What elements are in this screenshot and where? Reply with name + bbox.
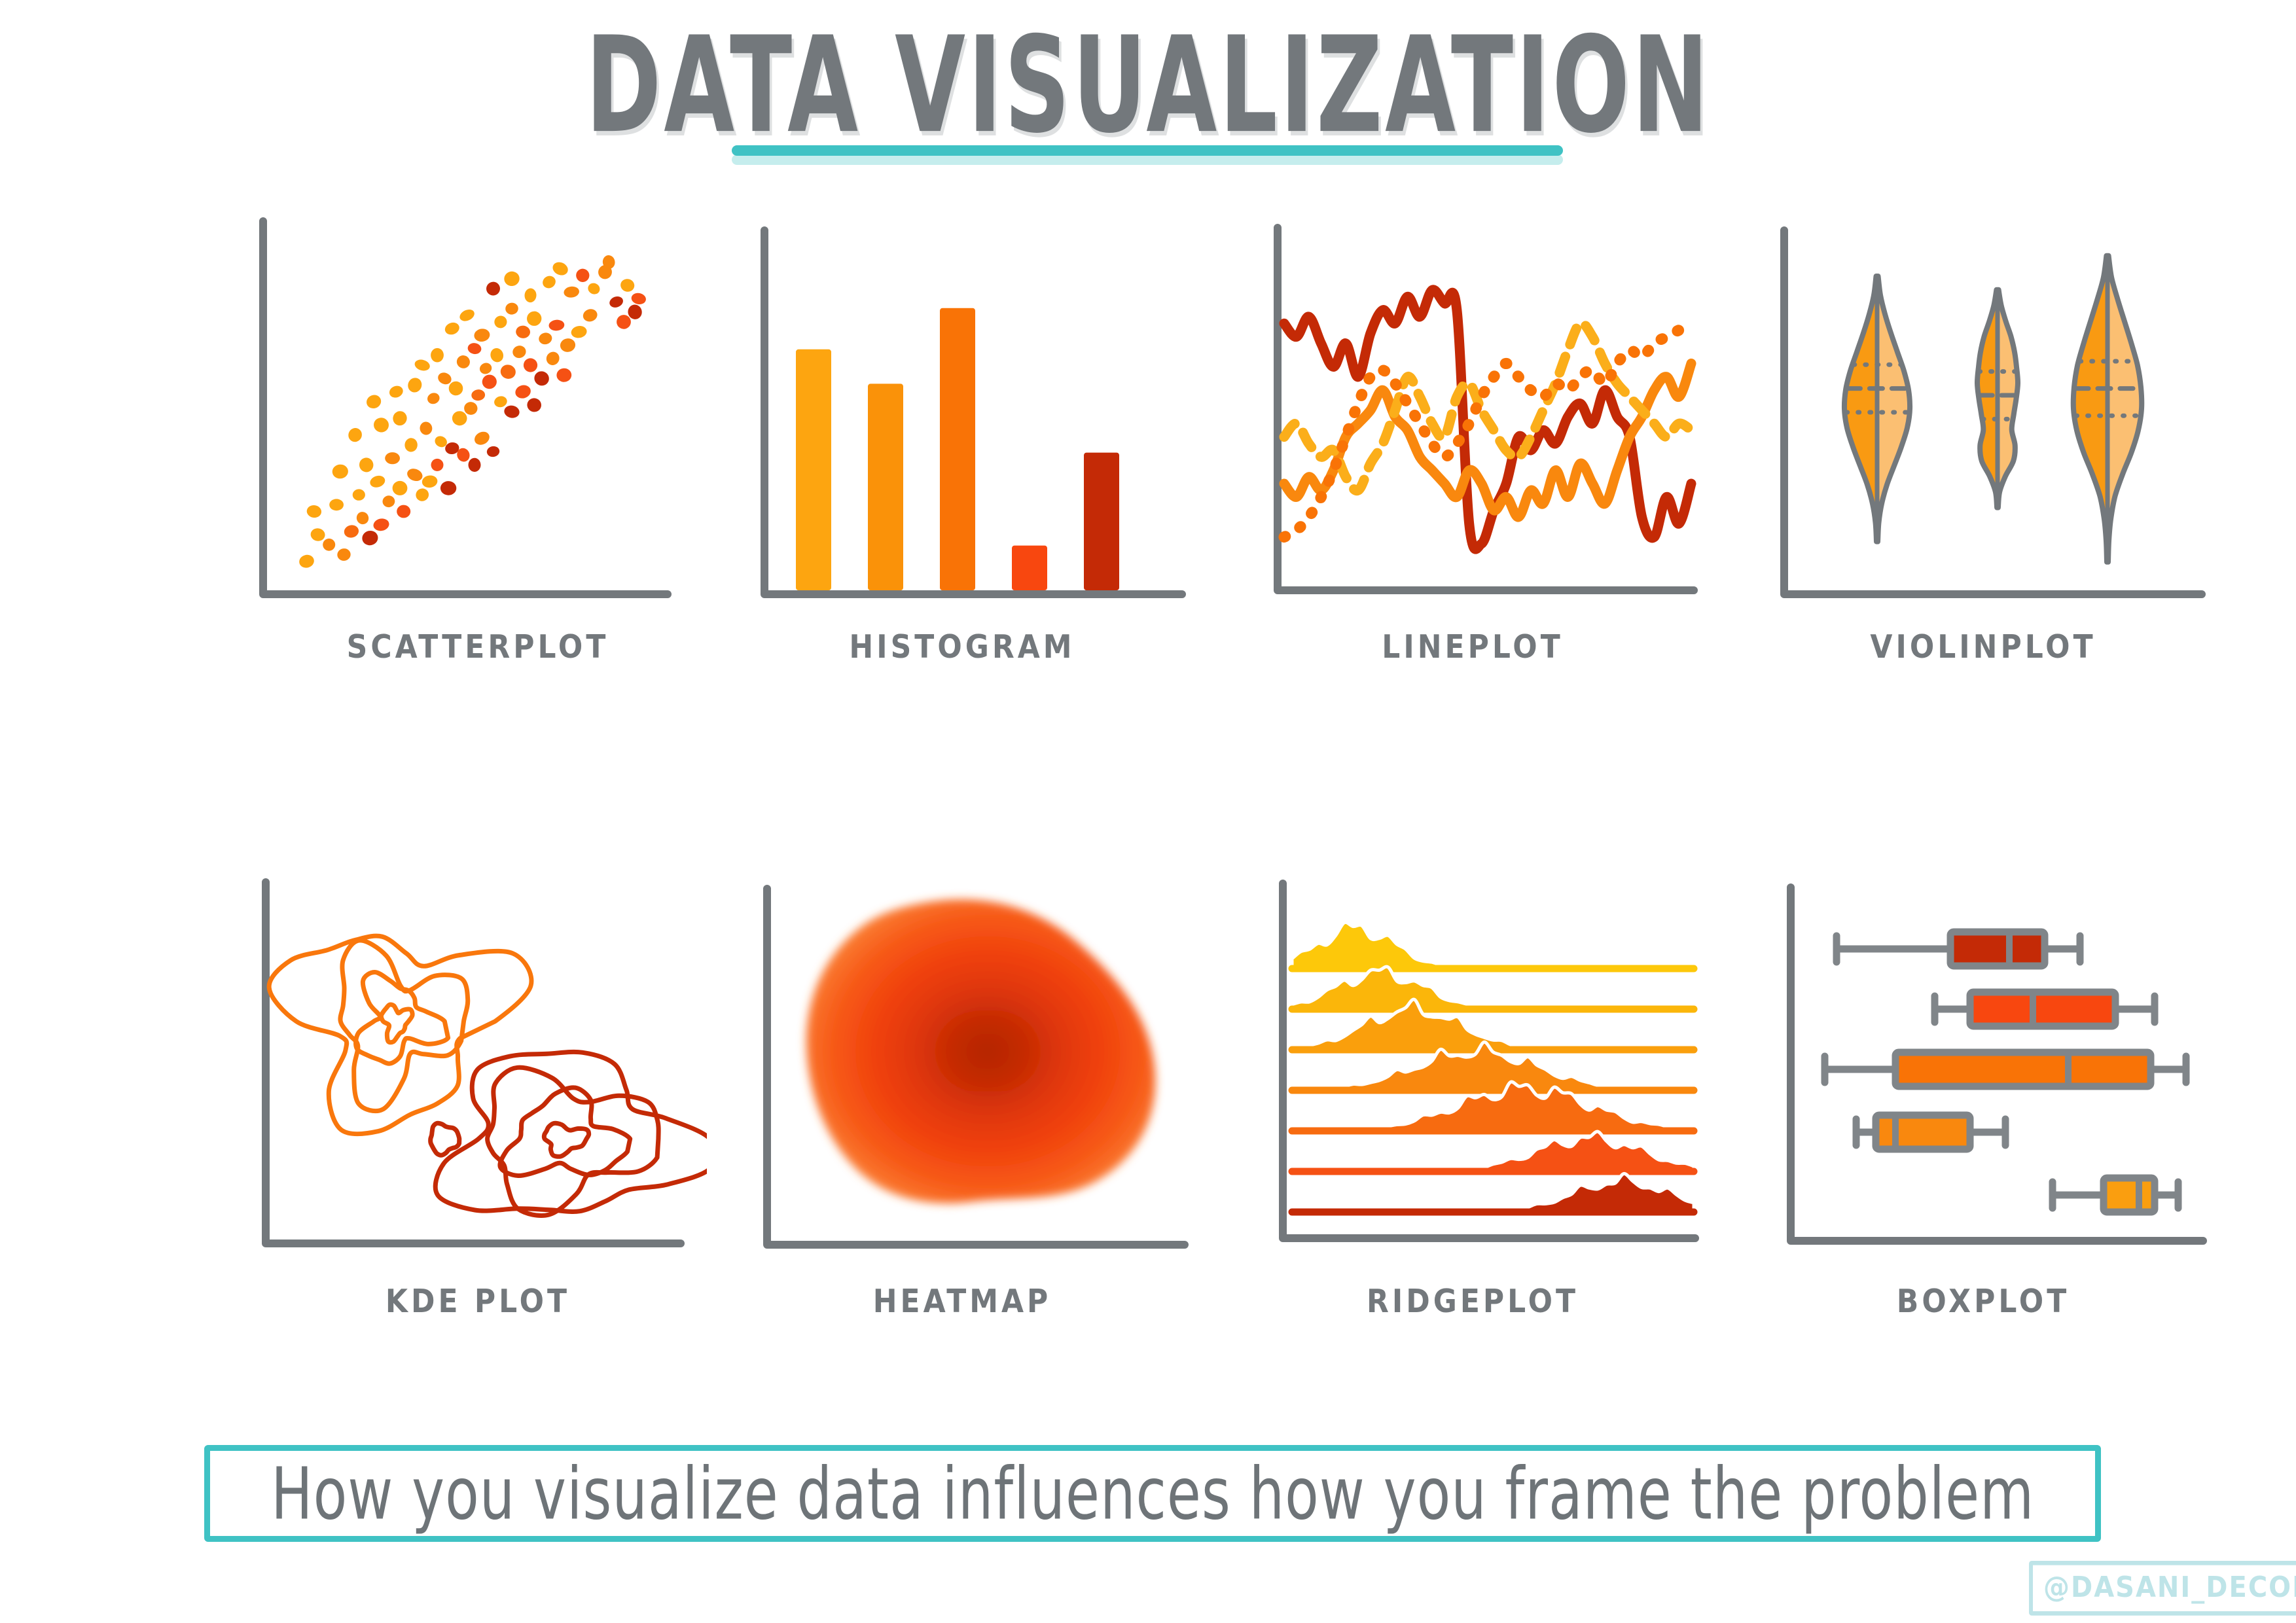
scatter-point bbox=[503, 404, 521, 419]
histogram-bar bbox=[1084, 453, 1119, 590]
ridge-area bbox=[1292, 967, 1694, 1009]
scatter-point bbox=[298, 553, 315, 569]
ridgeplot-plot-area bbox=[1244, 870, 1702, 1276]
footer-caption: How you visualize data influences how yo… bbox=[271, 1452, 2034, 1536]
scatter-point bbox=[468, 458, 480, 473]
kdeplot-plot-area bbox=[249, 870, 707, 1276]
page-title: DATA VISUALIZATION bbox=[585, 20, 1711, 152]
scatter-point bbox=[406, 376, 424, 395]
kdeplot-contours bbox=[269, 936, 707, 1215]
caption-histogram: HISTOGRAM bbox=[733, 628, 1191, 666]
scatter-point bbox=[617, 315, 631, 329]
lineplot-series bbox=[1284, 290, 1691, 549]
histogram-bar bbox=[1012, 546, 1047, 590]
boxplot-plot-area bbox=[1754, 870, 2212, 1276]
scatter-point bbox=[404, 438, 418, 453]
scatter-point bbox=[472, 429, 492, 448]
violinplot-violins bbox=[1844, 256, 2142, 562]
scatter-point bbox=[522, 356, 540, 374]
caption-boxplot: BOXPLOT bbox=[1754, 1283, 2212, 1320]
scatter-point bbox=[414, 358, 431, 372]
kde-contour-line bbox=[544, 1123, 588, 1156]
scatter-point bbox=[532, 368, 552, 388]
scatter-point bbox=[473, 328, 491, 343]
caption-heatmap: HEATMAP bbox=[733, 1283, 1191, 1320]
scatter-point bbox=[484, 279, 502, 298]
caption-violinplot: VIOLINPLOT bbox=[1754, 628, 2212, 666]
histogram-bars bbox=[796, 308, 1119, 590]
histogram-plot-area bbox=[733, 216, 1191, 622]
scatter-point bbox=[306, 505, 322, 519]
scatter-point bbox=[550, 260, 570, 277]
scatter-point bbox=[391, 410, 409, 427]
histogram-bar bbox=[940, 308, 975, 590]
scatter-point bbox=[481, 374, 498, 390]
scatter-point bbox=[586, 281, 602, 296]
scatter-point bbox=[463, 401, 478, 416]
scatter-point bbox=[503, 270, 521, 287]
scatter-point bbox=[630, 292, 647, 306]
scatter-point bbox=[343, 524, 360, 539]
caption-lineplot: LINEPLOT bbox=[1244, 628, 1702, 666]
scatter-point bbox=[575, 267, 591, 283]
scatter-point bbox=[329, 499, 344, 510]
scatter-point bbox=[372, 517, 390, 532]
boxplot-boxes bbox=[1825, 932, 2186, 1212]
scatter-point bbox=[387, 384, 404, 400]
heatmap-svg bbox=[733, 870, 1191, 1276]
chart-cell-kdeplot: KDE PLOT bbox=[249, 870, 707, 1394]
ridgeplot-ridges bbox=[1292, 922, 1694, 1212]
scatter-point bbox=[544, 349, 562, 368]
ridge-area bbox=[1292, 1173, 1694, 1212]
violinplot-svg bbox=[1754, 216, 2212, 622]
infographic-page: DATA VISUALIZATION SCATTERPLOT bbox=[0, 0, 2296, 1623]
chart-cell-heatmap: HEATMAP bbox=[733, 870, 1191, 1394]
scatter-point bbox=[619, 277, 636, 293]
scatter-point bbox=[511, 344, 528, 360]
scatter-point bbox=[419, 421, 433, 436]
histogram-svg bbox=[733, 216, 1191, 622]
scatterplot-svg bbox=[249, 216, 707, 622]
ridge-area bbox=[1292, 1132, 1694, 1171]
footer-banner: How you visualize data influences how yo… bbox=[204, 1445, 2101, 1542]
scatter-point bbox=[310, 527, 326, 543]
boxplot-svg bbox=[1754, 870, 2212, 1276]
scatter-point bbox=[368, 474, 387, 490]
scatter-point bbox=[515, 325, 531, 339]
lineplot-line bbox=[1284, 363, 1691, 517]
caption-kdeplot: KDE PLOT bbox=[249, 1283, 707, 1320]
scatter-point bbox=[526, 397, 543, 414]
heatmap-density-blob bbox=[806, 899, 1155, 1204]
scatter-point bbox=[478, 361, 493, 376]
scatter-point bbox=[443, 321, 461, 336]
lineplot-svg bbox=[1244, 216, 1702, 622]
scatter-point bbox=[332, 464, 349, 480]
boxplot-box bbox=[1950, 932, 2045, 966]
boxplot-box bbox=[1970, 992, 2115, 1026]
scatter-point bbox=[353, 489, 366, 501]
scatterplot-plot-area bbox=[249, 216, 707, 622]
scatter-point bbox=[608, 294, 624, 309]
violinplot-plot-area bbox=[1754, 216, 2212, 622]
scatter-point bbox=[322, 537, 336, 552]
watermark-handle: @DASANI_DECODED bbox=[2029, 1561, 2296, 1616]
scatter-point bbox=[458, 308, 476, 323]
scatter-point bbox=[422, 474, 439, 489]
chart-cell-boxplot: BOXPLOT bbox=[1754, 870, 2212, 1394]
scatter-point bbox=[426, 391, 441, 406]
page-header: DATA VISUALIZATION bbox=[0, 20, 2296, 118]
scatter-point bbox=[385, 452, 400, 464]
scatter-point bbox=[524, 288, 537, 303]
scatter-point bbox=[336, 547, 351, 562]
scatter-point bbox=[541, 274, 558, 291]
kdeplot-svg bbox=[249, 870, 707, 1276]
scatter-point bbox=[361, 529, 380, 547]
scatter-point bbox=[392, 481, 408, 496]
kdeplot-axes bbox=[266, 882, 681, 1243]
scatter-point bbox=[431, 348, 444, 363]
histogram-bar bbox=[796, 349, 831, 590]
lineplot-plot-area bbox=[1244, 216, 1702, 622]
scatter-point bbox=[514, 383, 533, 401]
scatter-point bbox=[414, 486, 431, 503]
scatter-point bbox=[448, 380, 463, 396]
chart-cell-scatterplot: SCATTERPLOT bbox=[249, 216, 707, 740]
scatter-point bbox=[537, 331, 553, 346]
scatter-point bbox=[451, 410, 467, 427]
scatter-point bbox=[493, 314, 509, 330]
chart-cell-ridgeplot: RIDGEPLOT bbox=[1244, 870, 1702, 1394]
title-underline bbox=[732, 145, 1563, 156]
scatter-point bbox=[559, 338, 576, 353]
scatter-point bbox=[570, 325, 588, 339]
chart-cell-histogram: HISTOGRAM bbox=[733, 216, 1191, 740]
ridge-area bbox=[1292, 922, 1694, 969]
caption-ridgeplot: RIDGEPLOT bbox=[1244, 1283, 1702, 1320]
scatter-point bbox=[471, 389, 486, 401]
scatter-point bbox=[486, 445, 501, 457]
scatter-point bbox=[563, 285, 579, 298]
scatter-point bbox=[397, 505, 410, 518]
scatter-point bbox=[548, 319, 565, 332]
histogram-bar bbox=[868, 383, 903, 590]
scatter-point bbox=[372, 416, 390, 433]
scatter-point bbox=[493, 395, 508, 408]
chart-cell-violinplot: VIOLINPLOT bbox=[1754, 216, 2212, 740]
scatter-point bbox=[454, 353, 472, 371]
scatter-point bbox=[430, 458, 444, 473]
boxplot-box bbox=[1895, 1052, 2151, 1086]
scatter-point bbox=[556, 368, 572, 382]
scatter-point bbox=[499, 363, 517, 381]
scatter-point bbox=[440, 481, 457, 495]
boxplot-box bbox=[1876, 1115, 1970, 1149]
caption-scatterplot: SCATTERPLOT bbox=[249, 628, 707, 666]
boxplot-box bbox=[2104, 1178, 2155, 1212]
scatter-point bbox=[382, 495, 396, 508]
scatter-point bbox=[358, 456, 375, 474]
kde-contour-line bbox=[500, 1088, 630, 1176]
scatter-point bbox=[505, 302, 519, 315]
chart-cell-lineplot: LINEPLOT bbox=[1244, 216, 1702, 740]
scatter-point bbox=[581, 307, 599, 323]
scatter-point bbox=[355, 510, 370, 526]
scatter-point bbox=[489, 346, 505, 364]
scatterplot-points bbox=[298, 255, 647, 569]
scatter-point bbox=[346, 425, 365, 444]
heatmap-plot-area bbox=[733, 870, 1191, 1276]
ridgeplot-svg bbox=[1244, 870, 1702, 1276]
scatter-point bbox=[524, 309, 543, 328]
kde-contour-outlier bbox=[431, 1123, 459, 1155]
scatter-point bbox=[365, 393, 383, 410]
scatter-point bbox=[405, 467, 424, 483]
scatter-point bbox=[467, 342, 482, 355]
